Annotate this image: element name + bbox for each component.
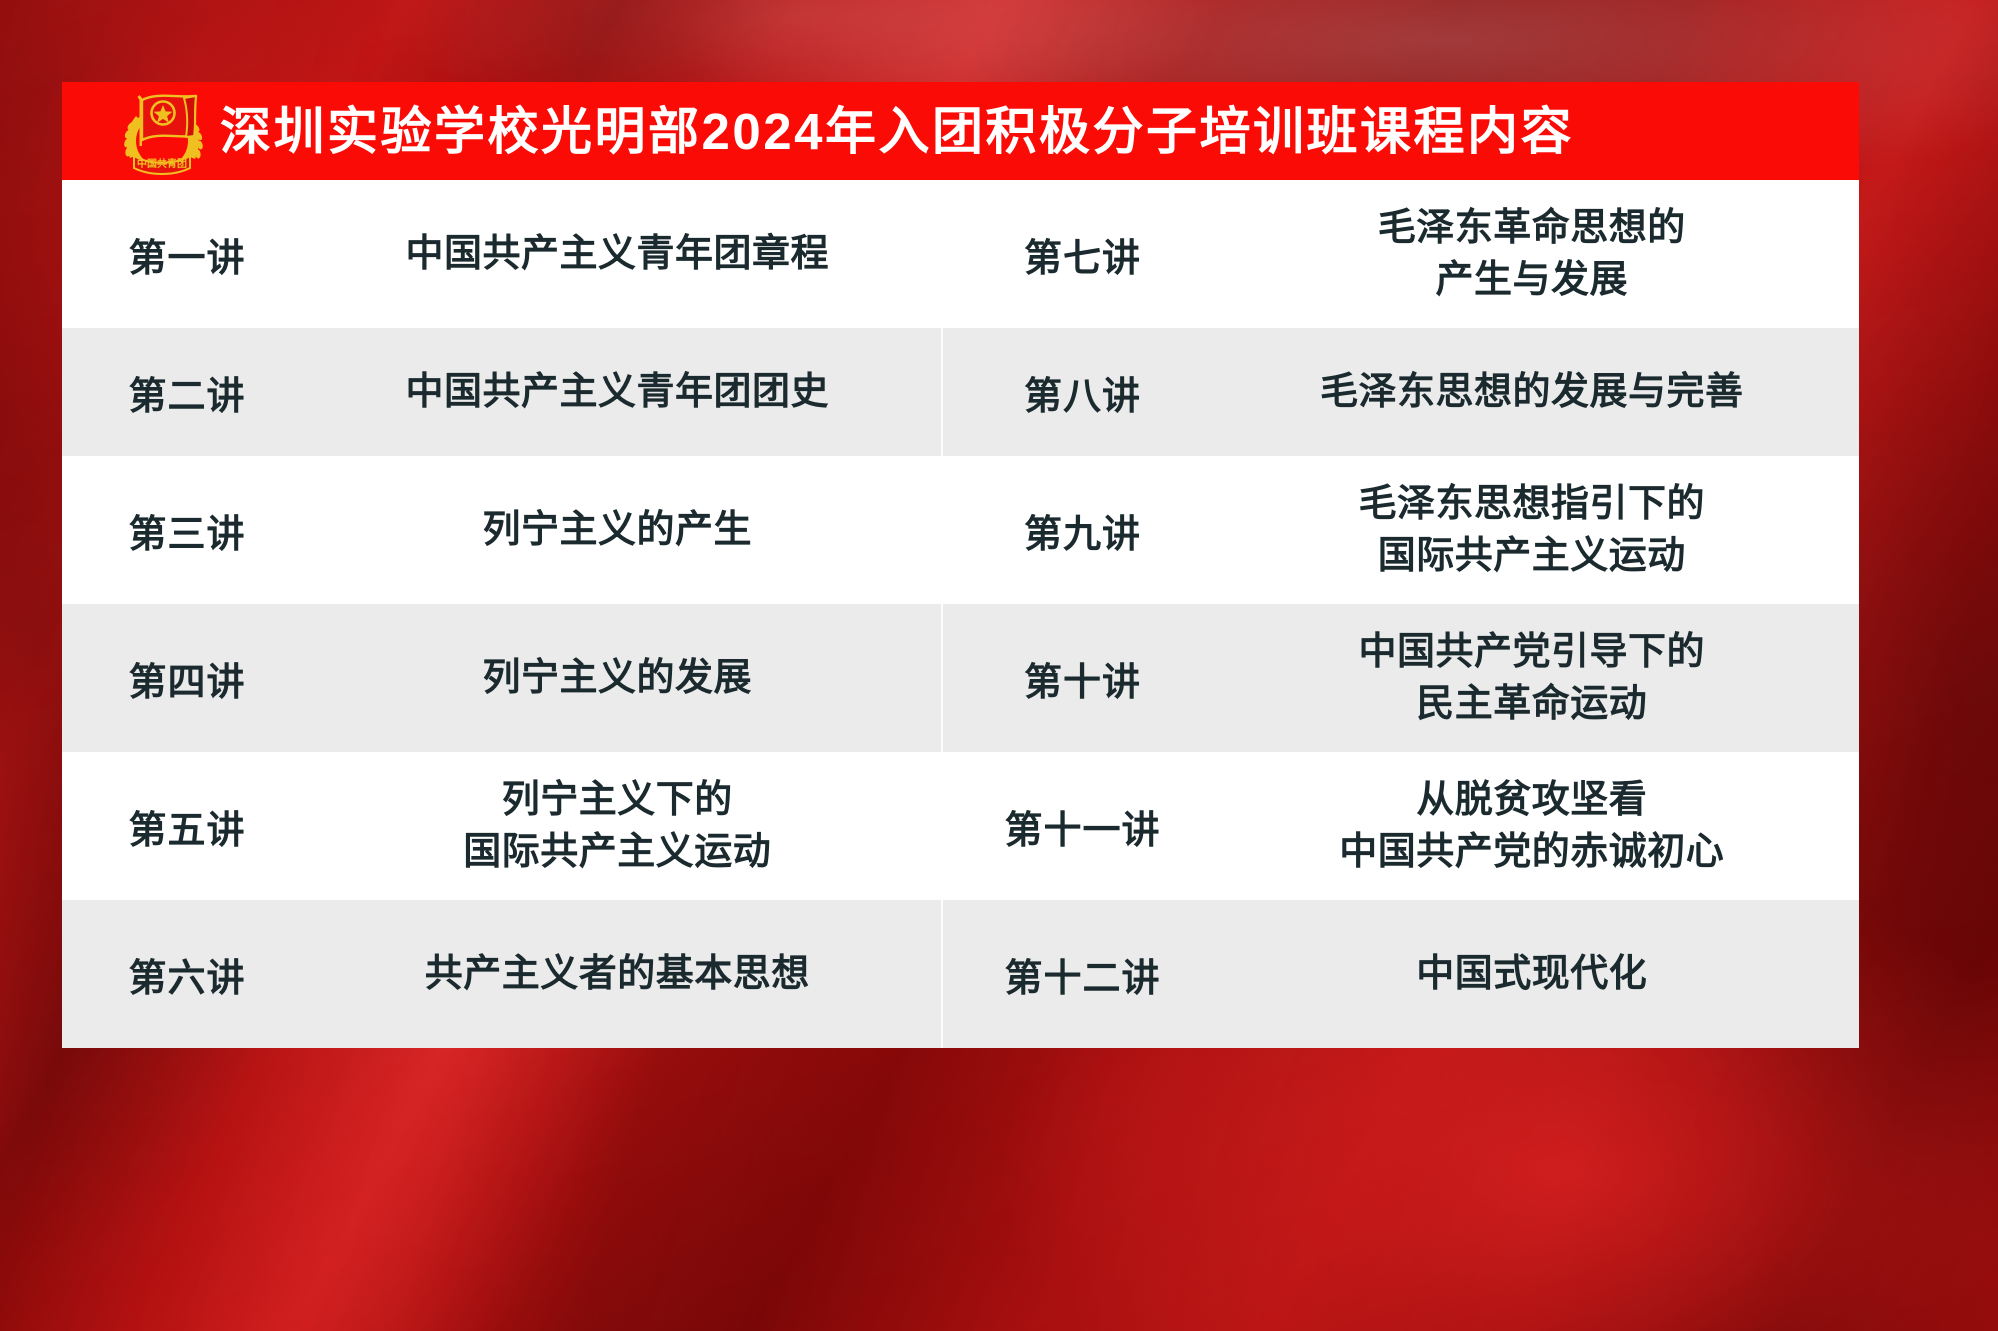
course-cell-left: 第三讲 列宁主义的产生 — [62, 456, 943, 604]
lecture-number: 第九讲 — [943, 503, 1223, 558]
lecture-title-line2: 产生与发展 — [1223, 254, 1841, 306]
lecture-title-line2: 国际共产主义运动 — [312, 826, 923, 878]
lecture-number: 第十二讲 — [943, 947, 1223, 1002]
table-row: 第二讲 中国共产主义青年团团史 第八讲 毛泽东思想的发展与完善 — [62, 328, 1859, 456]
course-cell-left: 第五讲 列宁主义下的 国际共产主义运动 — [62, 752, 943, 900]
lecture-title-line1: 中国式现代化 — [1416, 953, 1647, 995]
lecture-number: 第七讲 — [943, 227, 1223, 282]
lecture-title: 中国共产主义青年团团史 — [312, 366, 941, 418]
lecture-title-line1: 中国共产主义青年团章程 — [406, 233, 830, 275]
lecture-title-line1: 中国共产主义青年团团史 — [406, 371, 830, 413]
lecture-number: 第二讲 — [62, 365, 312, 420]
lecture-title-line1: 毛泽东思想指引下的 — [1358, 483, 1705, 525]
table-row: 第四讲 列宁主义的发展 第十讲 中国共产党引导下的 民主革命运动 — [62, 604, 1859, 752]
lecture-title-line1: 列宁主义的产生 — [483, 509, 753, 551]
lecture-title-line2: 民主革命运动 — [1223, 678, 1841, 730]
lecture-title: 列宁主义的产生 — [312, 504, 941, 556]
lecture-title-line1: 从脱贫攻坚看 — [1416, 779, 1647, 821]
course-cell-left: 第二讲 中国共产主义青年团团史 — [62, 328, 943, 456]
emblem-banner-text: 中国共青团 — [137, 157, 187, 170]
lecture-title: 列宁主义下的 国际共产主义运动 — [312, 774, 941, 879]
course-cell-left: 第六讲 共产主义者的基本思想 — [62, 900, 943, 1048]
table-row: 第六讲 共产主义者的基本思想 第十二讲 中国式现代化 — [62, 900, 1859, 1048]
lecture-title: 列宁主义的发展 — [312, 652, 941, 704]
lecture-title: 共产主义者的基本思想 — [312, 948, 941, 1000]
course-cell-right: 第十二讲 中国式现代化 — [943, 900, 1859, 1048]
lecture-title-line1: 毛泽东思想的发展与完善 — [1320, 371, 1744, 413]
lecture-number: 第八讲 — [943, 365, 1223, 420]
lecture-title-line1: 共产主义者的基本思想 — [425, 953, 810, 995]
lecture-number: 第四讲 — [62, 651, 312, 706]
header-band: 中国共青团 深圳实验学校光明部2024年入团积极分子培训班课程内容 — [62, 82, 1859, 180]
course-cell-right: 第九讲 毛泽东思想指引下的 国际共产主义运动 — [943, 456, 1859, 604]
lecture-number: 第十一讲 — [943, 799, 1223, 854]
lecture-title: 从脱贫攻坚看 中国共产党的赤诚初心 — [1223, 774, 1859, 879]
lecture-title: 中国共产党引导下的 民主革命运动 — [1223, 626, 1859, 731]
lecture-title: 中国式现代化 — [1223, 948, 1859, 1000]
lecture-title-line1: 中国共产党引导下的 — [1358, 631, 1705, 673]
table-row: 第五讲 列宁主义下的 国际共产主义运动 第十一讲 从脱贫攻坚看 中国共产党的赤诚… — [62, 752, 1859, 900]
lecture-title: 中国共产主义青年团章程 — [312, 228, 941, 280]
lecture-title: 毛泽东革命思想的 产生与发展 — [1223, 202, 1859, 307]
table-row: 第三讲 列宁主义的产生 第九讲 毛泽东思想指引下的 国际共产主义运动 — [62, 456, 1859, 604]
lecture-number: 第五讲 — [62, 799, 312, 854]
lecture-title-line1: 毛泽东革命思想的 — [1378, 207, 1686, 249]
lecture-title-line2: 中国共产党的赤诚初心 — [1223, 826, 1841, 878]
course-cell-left: 第四讲 列宁主义的发展 — [62, 604, 943, 752]
course-cell-right: 第十讲 中国共产党引导下的 民主革命运动 — [943, 604, 1859, 752]
lecture-title-line1: 列宁主义下的 — [502, 779, 733, 821]
course-cell-right: 第七讲 毛泽东革命思想的 产生与发展 — [943, 180, 1859, 328]
table-row: 第一讲 中国共产主义青年团章程 第七讲 毛泽东革命思想的 产生与发展 — [62, 180, 1859, 328]
lecture-number: 第一讲 — [62, 227, 312, 282]
lecture-title: 毛泽东思想的发展与完善 — [1223, 366, 1859, 418]
lecture-number: 第十讲 — [943, 651, 1223, 706]
lecture-title-line2: 国际共产主义运动 — [1223, 530, 1841, 582]
lecture-number: 第三讲 — [62, 503, 312, 558]
communist-youth-league-emblem: 中国共青团 — [106, 86, 210, 178]
course-cell-left: 第一讲 中国共产主义青年团章程 — [62, 180, 943, 328]
lecture-title: 毛泽东思想指引下的 国际共产主义运动 — [1223, 478, 1859, 583]
course-cell-right: 第十一讲 从脱贫攻坚看 中国共产党的赤诚初心 — [943, 752, 1859, 900]
poster-canvas: 中国共青团 深圳实验学校光明部2024年入团积极分子培训班课程内容 第一讲 中国… — [0, 0, 1998, 1331]
lecture-title-line1: 列宁主义的发展 — [483, 657, 753, 699]
course-schedule-table: 第一讲 中国共产主义青年团章程 第七讲 毛泽东革命思想的 产生与发展 第二讲 中… — [62, 180, 1859, 1048]
course-cell-right: 第八讲 毛泽东思想的发展与完善 — [943, 328, 1859, 456]
page-title: 深圳实验学校光明部2024年入团积极分子培训班课程内容 — [220, 106, 1574, 157]
lecture-number: 第六讲 — [62, 947, 312, 1002]
